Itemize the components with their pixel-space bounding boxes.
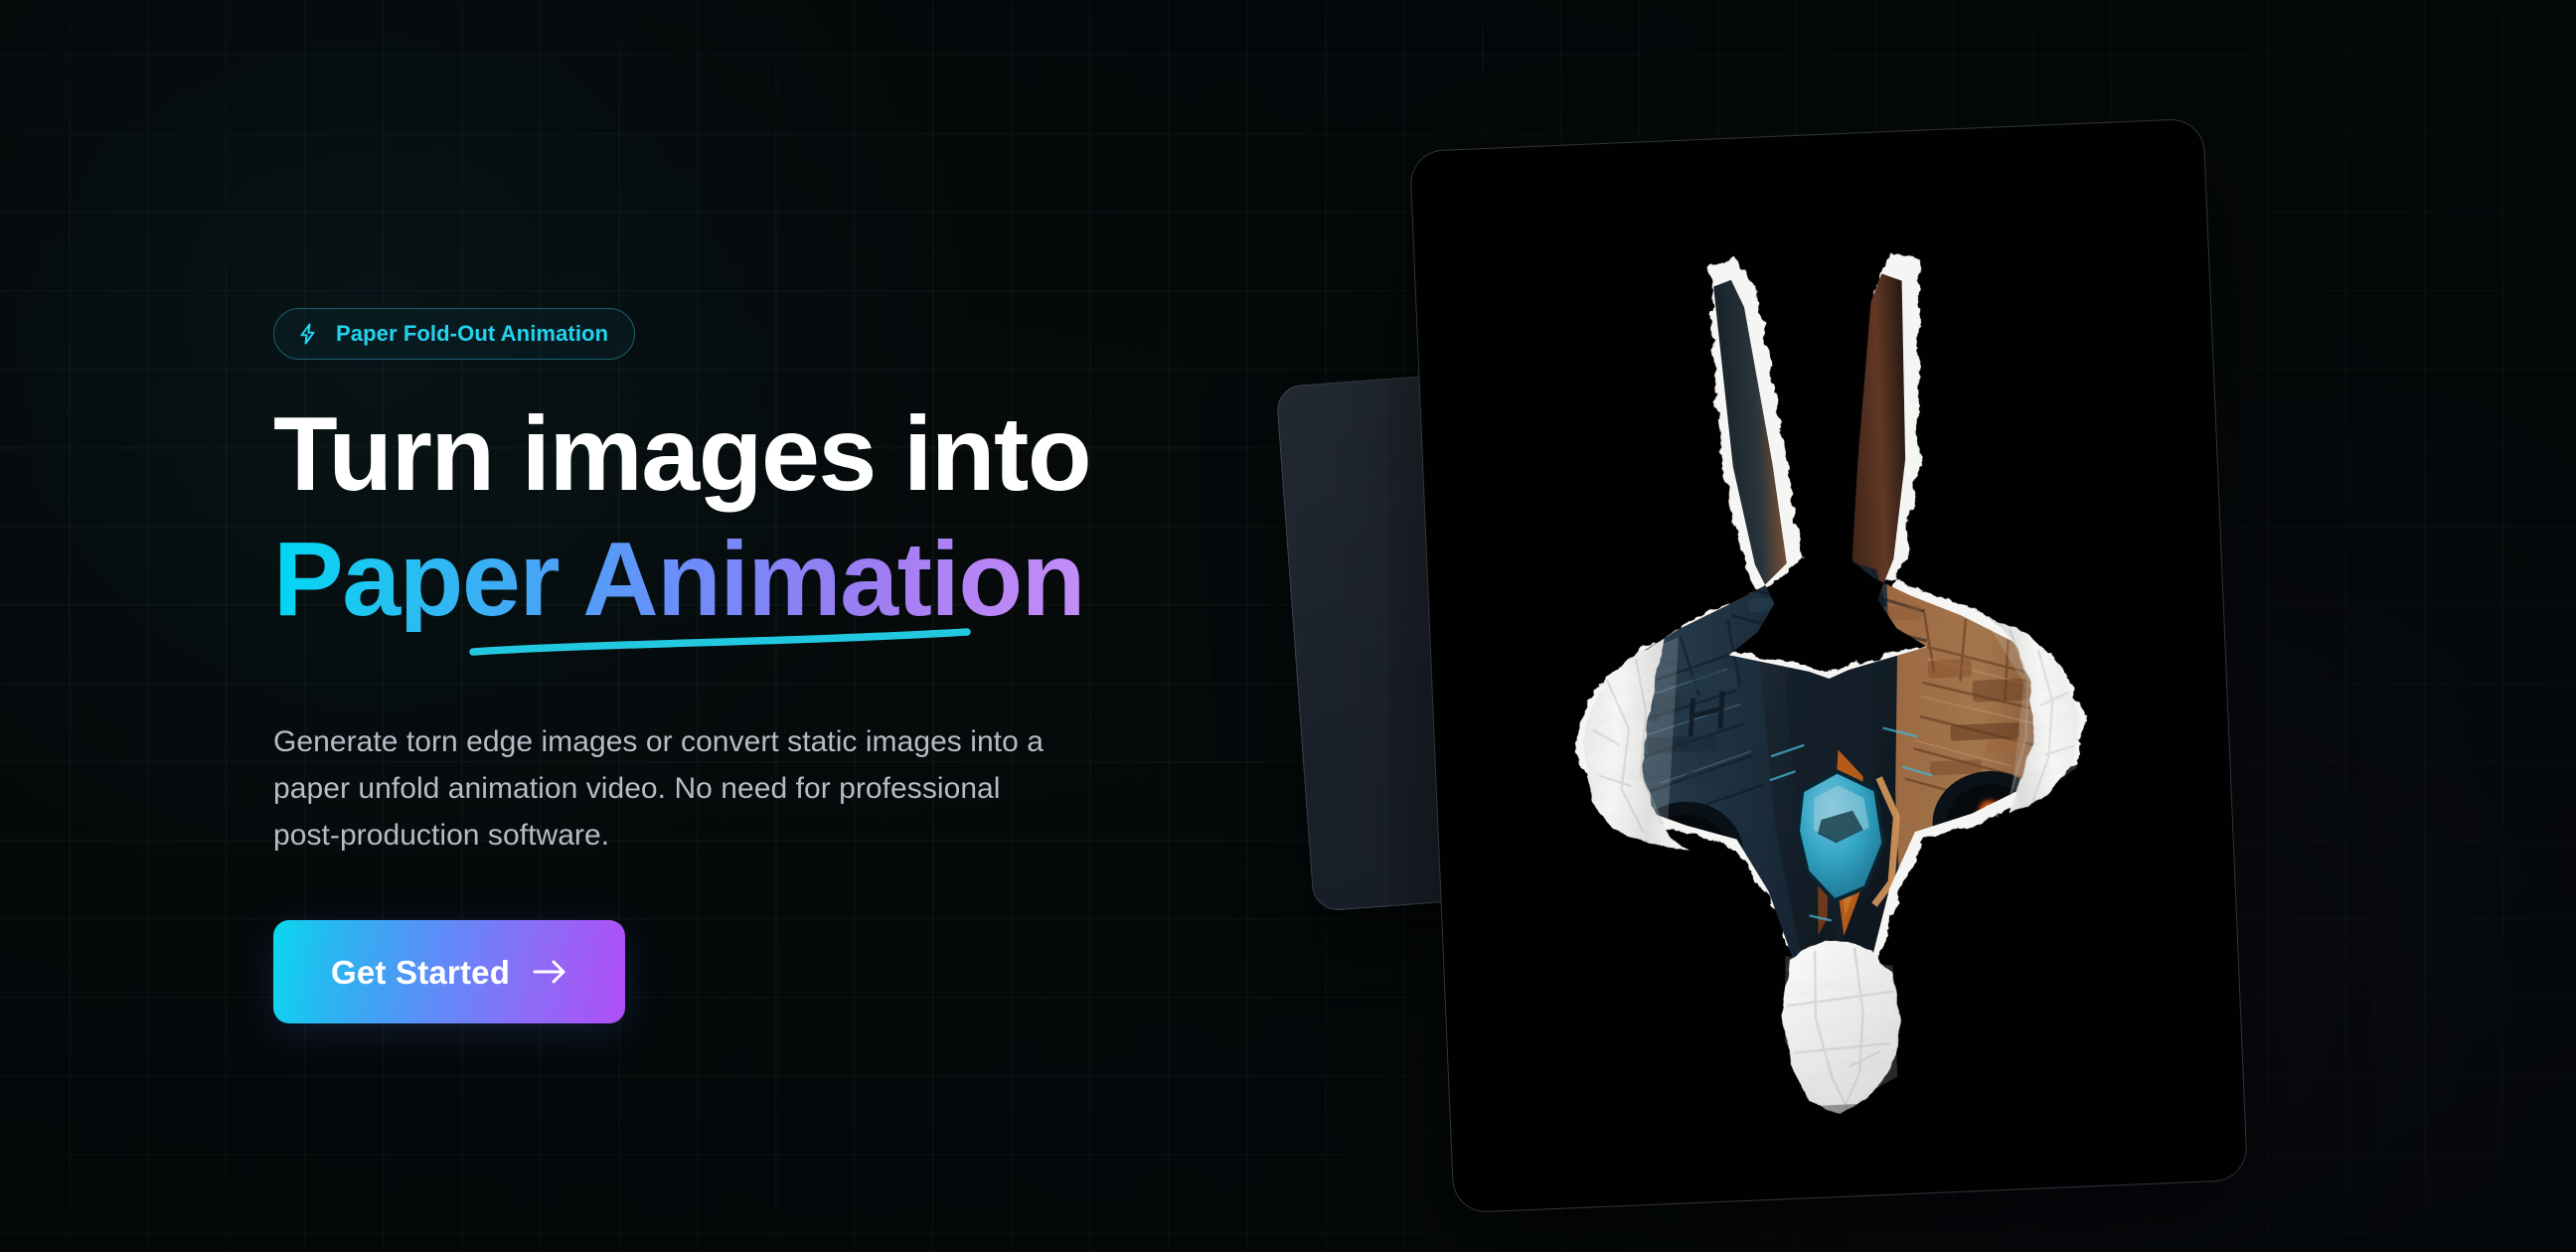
headline-line-1: Turn images into	[273, 401, 1327, 507]
page-title: Turn images into Paper Animation	[273, 401, 1327, 632]
preview-cards-group	[1252, 99, 2574, 1252]
get-started-button[interactable]: Get Started	[273, 920, 625, 1023]
underline-swoosh-icon	[470, 628, 997, 662]
get-started-label: Get Started	[331, 956, 510, 989]
feature-badge-label: Paper Fold-Out Animation	[336, 323, 608, 345]
page-subtitle: Generate torn edge images or convert sta…	[273, 719, 1277, 859]
lightning-bolt-icon	[296, 322, 320, 346]
hero-copy-column: Paper Fold-Out Animation Turn images int…	[273, 308, 1327, 1023]
preview-card-inner	[1410, 119, 2247, 1212]
spaceship-torn-paper-artwork	[1410, 119, 2247, 1212]
headline-line-2-gradient: Paper Animation	[273, 527, 1084, 632]
subtitle-line-1: Generate torn edge images or convert sta…	[273, 719, 1277, 766]
preview-card[interactable]	[1409, 118, 2248, 1214]
arrow-right-icon	[532, 959, 567, 985]
subtitle-line-2: paper unfold animation video. No need fo…	[273, 766, 1277, 813]
headline-line-2-wrapper: Paper Animation	[273, 527, 1084, 632]
hero-section: Paper Fold-Out Animation Turn images int…	[0, 0, 2576, 1252]
subtitle-line-3: post-production software.	[273, 813, 1277, 860]
feature-badge[interactable]: Paper Fold-Out Animation	[273, 308, 635, 360]
